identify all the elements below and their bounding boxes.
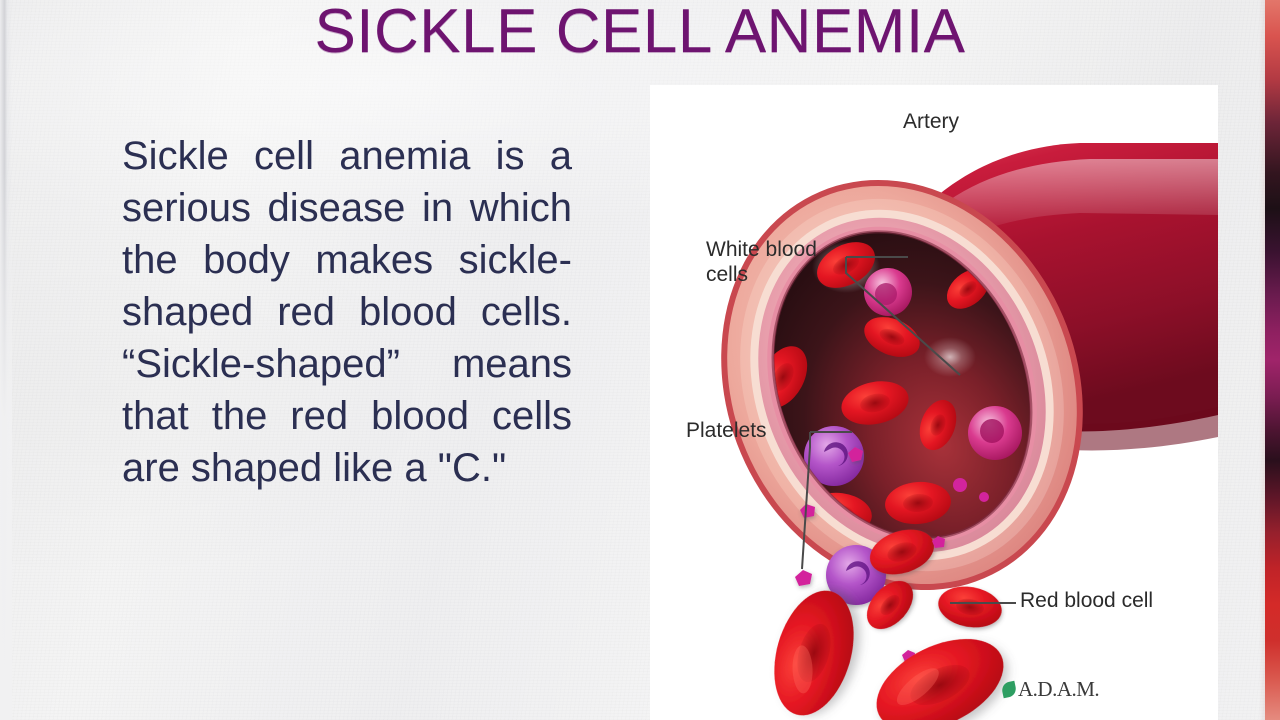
adam-logo-text: A.D.A.M. — [1018, 677, 1099, 702]
adam-logo: A.D.A.M. — [1002, 677, 1099, 702]
leaf-icon — [1001, 681, 1018, 699]
body-paragraph: Sickle cell anemia is a serious disease … — [122, 130, 572, 494]
artery-illustration — [650, 85, 1218, 720]
left-edge-fade — [0, 170, 12, 720]
label-artery: Artery — [903, 109, 959, 134]
slide-canvas: SICKLE CELL ANEMIA Sickle cell anemia is… — [0, 0, 1280, 720]
artery-diagram-panel: Artery White blood cells Platelets Red b… — [650, 85, 1218, 720]
page-title: SICKLE CELL ANEMIA — [0, 0, 1280, 67]
label-platelets: Platelets — [686, 418, 767, 443]
label-white-blood-cells: White blood cells — [706, 237, 817, 287]
label-red-blood-cell: Red blood cell — [1020, 588, 1153, 613]
right-edge-color-strip — [1265, 0, 1280, 720]
